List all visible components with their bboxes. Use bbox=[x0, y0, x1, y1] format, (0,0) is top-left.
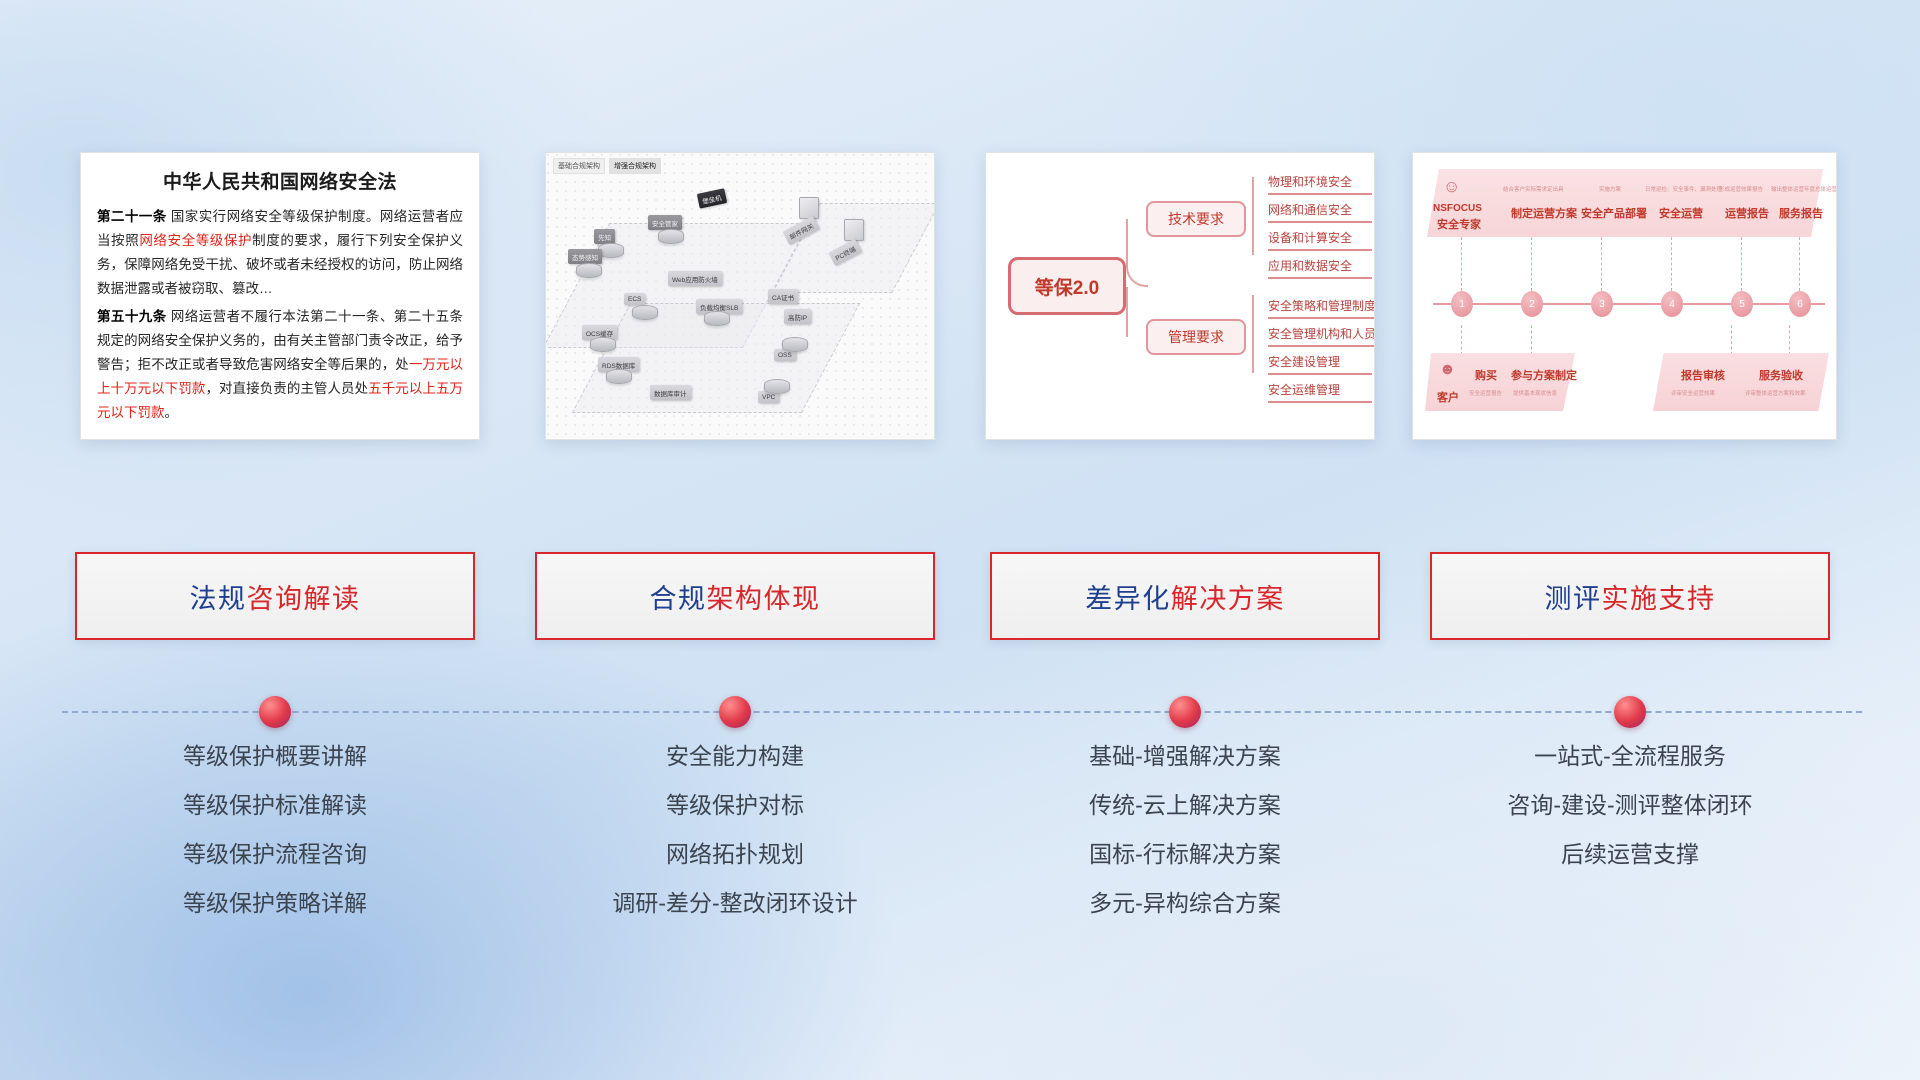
mindmap-leaf-tech-2: 网络和通信安全 bbox=[1268, 201, 1372, 223]
timeline-dashed-line bbox=[62, 711, 1862, 713]
nsfocus-process-diagram: ☺ NSFOCUS 安全专家 结合客户实际需求定出具 制定运营方案 实施方案 安… bbox=[1413, 153, 1836, 439]
arch-node-bastion: 堡垒机 bbox=[697, 188, 727, 208]
list-item: 等级保护对标 bbox=[535, 794, 935, 817]
list-item: 咨询-建设-测评整体闭环 bbox=[1430, 794, 1830, 817]
list-item: 安全能力构建 bbox=[535, 745, 935, 768]
stem-lower-2 bbox=[1531, 325, 1532, 355]
stem-2 bbox=[1531, 237, 1532, 291]
list-item: 传统-云上解决方案 bbox=[990, 794, 1380, 817]
arch-cylinder-ecs bbox=[632, 305, 658, 320]
tab-basic-architecture[interactable]: 基础合规架构 bbox=[553, 158, 605, 174]
bottom-step-3-sub: 评审安全运营效果 bbox=[1671, 389, 1715, 397]
stem-3 bbox=[1601, 237, 1602, 291]
top-step-3-sub: 日常巡检、安全事件、漏洞处理 bbox=[1645, 185, 1722, 193]
arch-cylinder-butler bbox=[658, 229, 684, 244]
timeline-marker-1[interactable] bbox=[259, 696, 291, 728]
arch-node-security-butler: 安全管家 bbox=[648, 215, 682, 230]
mindmap-leaf-tech-3: 设备和计算安全 bbox=[1268, 229, 1372, 251]
list-item: 一站式-全流程服务 bbox=[1430, 745, 1830, 768]
section-4-heading-part2: 实施支持 bbox=[1602, 584, 1716, 614]
section-1-heading-part1: 法规 bbox=[190, 584, 247, 614]
arch-node-db-audit: 数据库审计 bbox=[650, 385, 691, 400]
timeline-marker-3[interactable] bbox=[1169, 696, 1201, 728]
arch-node-ecs: ECS bbox=[624, 293, 645, 305]
section-heading-1[interactable]: 法规咨询解读 bbox=[75, 552, 475, 640]
list-item: 多元-异构综合方案 bbox=[990, 892, 1380, 915]
top-step-1-sub: 结合客户实际需求定出具 bbox=[1503, 185, 1564, 193]
mindmap-root-node: 等保2.0 bbox=[1008, 257, 1126, 315]
section-heading-4[interactable]: 测评实施支持 bbox=[1430, 552, 1830, 640]
mindmap-connector-mgmt bbox=[1252, 295, 1254, 373]
list-item: 等级保护标准解读 bbox=[75, 794, 475, 817]
list-item: 基础-增强解决方案 bbox=[990, 745, 1380, 768]
section-detail-row: 等级保护概要讲解 等级保护标准解读 等级保护流程咨询 等级保护策略详解 安全能力… bbox=[0, 745, 1920, 985]
bottom-step-2-sub: 提供基本现状信息 bbox=[1513, 389, 1557, 397]
timeline-dot-1: 1 bbox=[1451, 291, 1473, 317]
stem-lower-4 bbox=[1789, 325, 1790, 355]
customer-role: 客户 bbox=[1437, 389, 1459, 405]
bottom-step-2-label: 参与方案制定 bbox=[1511, 367, 1577, 383]
nsfocus-axis bbox=[1433, 303, 1825, 305]
list-item: 国标-行标解决方案 bbox=[990, 843, 1380, 866]
law-article-21: 第二十一条 国家实行网络安全等级保护制度。网络运营者应当按照网络安全等级保护制度… bbox=[97, 205, 463, 301]
section-3-heading-part1: 差异化 bbox=[1085, 584, 1171, 614]
arch-node-waf: Web应用防火墙 bbox=[668, 271, 722, 286]
arch-node-situational-awareness: 态势感知 bbox=[568, 249, 602, 264]
card-cybersecurity-law: 中华人民共和国网络安全法 第二十一条 国家实行网络安全等级保护制度。网络运营者应… bbox=[80, 152, 480, 440]
detail-list-2: 安全能力构建 等级保护对标 网络拓扑规划 调研-差分-整改闭环设计 bbox=[535, 745, 935, 941]
arch-node-xianzhi: 先知 bbox=[594, 229, 615, 244]
detail-list-1: 等级保护概要讲解 等级保护标准解读 等级保护流程咨询 等级保护策略详解 bbox=[75, 745, 475, 941]
list-item: 网络拓扑规划 bbox=[535, 843, 935, 866]
stem-lower-3 bbox=[1731, 325, 1732, 355]
card-dengbao-mindmap: 等保2.0 技术要求 管理要求 物理和环境安全 网络和通信安全 设备和计算安全 … bbox=[985, 152, 1375, 440]
top-step-5-sub: 输出整体运营年度总体运营效果 bbox=[1771, 185, 1837, 193]
top-step-3-label: 安全运营 bbox=[1659, 205, 1703, 221]
expert-name: NSFOCUS bbox=[1433, 203, 1482, 214]
expert-avatar-icon: ☺ bbox=[1443, 177, 1460, 197]
timeline-dot-6: 6 bbox=[1789, 291, 1811, 317]
arch-cylinder-oss bbox=[782, 337, 808, 352]
bottom-step-3-label: 报告审核 bbox=[1681, 367, 1725, 383]
detail-list-3: 基础-增强解决方案 传统-云上解决方案 国标-行标解决方案 多元-异构综合方案 bbox=[990, 745, 1380, 941]
expert-role: 安全专家 bbox=[1437, 216, 1481, 232]
section-heading-3[interactable]: 差异化解决方案 bbox=[990, 552, 1380, 640]
top-step-1-label: 制定运营方案 bbox=[1511, 205, 1577, 221]
mindmap-branch-tech: 技术要求 bbox=[1146, 201, 1246, 237]
mindmap-curve-mgmt bbox=[1126, 287, 1148, 337]
tab-enhanced-architecture[interactable]: 增强合规架构 bbox=[609, 158, 661, 174]
article-59-text-c: 。 bbox=[165, 405, 179, 420]
timeline-marker-2[interactable] bbox=[719, 696, 751, 728]
timeline bbox=[0, 692, 1920, 732]
architecture-diagram: 基础合规架构 增强合规架构 堡垒机 安全管家 先知 态势感知 邮件网关 PC终端… bbox=[546, 153, 934, 439]
arch-box-pc-terminal bbox=[844, 219, 864, 241]
nsfocus-expert-band bbox=[1427, 169, 1823, 237]
section-heading-2[interactable]: 合规架构体现 bbox=[535, 552, 935, 640]
stem-1 bbox=[1461, 237, 1462, 291]
mindmap-leaf-mgmt-1: 安全策略和管理制度 bbox=[1268, 297, 1375, 319]
mindmap-leaf-tech-1: 物理和环境安全 bbox=[1268, 173, 1372, 195]
stem-6 bbox=[1799, 237, 1800, 291]
customer-avatar-icon: ☻ bbox=[1439, 361, 1456, 379]
mindmap-curve-tech bbox=[1126, 219, 1148, 287]
bottom-step-1-label: 购买 bbox=[1475, 367, 1497, 383]
arch-cylinder-vpc bbox=[764, 379, 790, 394]
mindmap-connector-tech bbox=[1252, 177, 1254, 255]
list-item: 等级保护概要讲解 bbox=[75, 745, 475, 768]
article-21-highlight: 网络安全等级保护 bbox=[139, 233, 252, 248]
law-article-59: 第五十九条 网络运营者不履行本法第二十一条、第二十五条规定的网络安全保护义务的，… bbox=[97, 305, 463, 425]
mindmap-leaf-tech-4: 应用和数据安全 bbox=[1268, 257, 1372, 279]
arch-cylinder-slb bbox=[704, 311, 730, 326]
article-21-label: 第二十一条 bbox=[97, 209, 167, 224]
arch-cylinder-ocs bbox=[590, 337, 616, 352]
bottom-step-1-sub: 安全运营报告 bbox=[1469, 389, 1502, 397]
architecture-tab-row: 基础合规架构 增强合规架构 bbox=[553, 158, 661, 174]
section-heading-row: 法规咨询解读 合规架构体现 差异化解决方案 测评实施支持 bbox=[0, 552, 1920, 640]
top-step-4-label: 运营报告 bbox=[1725, 205, 1769, 221]
mindmap: 等保2.0 技术要求 管理要求 物理和环境安全 网络和通信安全 设备和计算安全 … bbox=[986, 153, 1374, 439]
arch-box-mail-gateway bbox=[799, 197, 819, 219]
mindmap-leaf-mgmt-4: 安全运维管理 bbox=[1268, 381, 1372, 403]
top-step-2-label: 安全产品部署 bbox=[1581, 205, 1647, 221]
stem-lower-1 bbox=[1461, 325, 1462, 355]
arch-cylinder-rds bbox=[606, 369, 632, 384]
section-2-heading-part2: 架构体现 bbox=[707, 584, 821, 614]
law-text-block: 中华人民共和国网络安全法 第二十一条 国家实行网络安全等级保护制度。网络运营者应… bbox=[81, 153, 479, 435]
timeline-marker-4[interactable] bbox=[1614, 696, 1646, 728]
timeline-dot-5: 5 bbox=[1731, 291, 1753, 317]
mindmap-branch-mgmt: 管理要求 bbox=[1146, 319, 1246, 355]
arch-node-anti-ddos: 高防IP bbox=[784, 309, 811, 324]
top-step-5-label: 服务报告 bbox=[1779, 205, 1823, 221]
top-step-2-sub: 实施方案 bbox=[1599, 185, 1621, 193]
top-step-4-sub: 形成运营效果报告 bbox=[1719, 185, 1763, 193]
card-compliance-architecture: 基础合规架构 增强合规架构 堡垒机 安全管家 先知 态势感知 邮件网关 PC终端… bbox=[545, 152, 935, 440]
timeline-dot-2: 2 bbox=[1521, 291, 1543, 317]
article-59-label: 第五十九条 bbox=[97, 309, 167, 324]
bottom-step-4-sub: 评审整体运营方案和效果 bbox=[1745, 389, 1806, 397]
section-1-heading-part2: 咨询解读 bbox=[247, 584, 361, 614]
card-nsfocus-timeline: ☺ NSFOCUS 安全专家 结合客户实际需求定出具 制定运营方案 实施方案 安… bbox=[1412, 152, 1837, 440]
stem-5 bbox=[1741, 237, 1742, 291]
detail-list-4: 一站式-全流程服务 咨询-建设-测评整体闭环 后续运营支撑 bbox=[1430, 745, 1830, 892]
section-2-heading-part1: 合规 bbox=[650, 584, 707, 614]
arch-cylinder-sa bbox=[576, 263, 602, 278]
list-item: 等级保护流程咨询 bbox=[75, 843, 475, 866]
section-3-heading-part2: 解决方案 bbox=[1171, 584, 1285, 614]
bottom-step-4-label: 服务验收 bbox=[1759, 367, 1803, 383]
list-item: 等级保护策略详解 bbox=[75, 892, 475, 915]
arch-node-ca-cert: CA证书 bbox=[768, 289, 798, 304]
section-4-heading-part1: 测评 bbox=[1545, 584, 1602, 614]
slide-canvas: 中华人民共和国网络安全法 第二十一条 国家实行网络安全等级保护制度。网络运营者应… bbox=[0, 0, 1920, 1080]
timeline-dot-4: 4 bbox=[1661, 291, 1683, 317]
image-card-row: 中华人民共和国网络安全法 第二十一条 国家实行网络安全等级保护制度。网络运营者应… bbox=[0, 152, 1920, 442]
timeline-dot-3: 3 bbox=[1591, 291, 1613, 317]
article-59-text-b: ，对直接负责的主管人员处 bbox=[205, 381, 368, 396]
list-item: 后续运营支撑 bbox=[1430, 843, 1830, 866]
mindmap-leaf-mgmt-3: 安全建设管理 bbox=[1268, 353, 1372, 375]
mindmap-leaf-mgmt-2: 安全管理机构和人员 bbox=[1268, 325, 1375, 347]
list-item: 调研-差分-整改闭环设计 bbox=[535, 892, 935, 915]
stem-4 bbox=[1671, 237, 1672, 291]
law-title: 中华人民共和国网络安全法 bbox=[97, 167, 463, 194]
